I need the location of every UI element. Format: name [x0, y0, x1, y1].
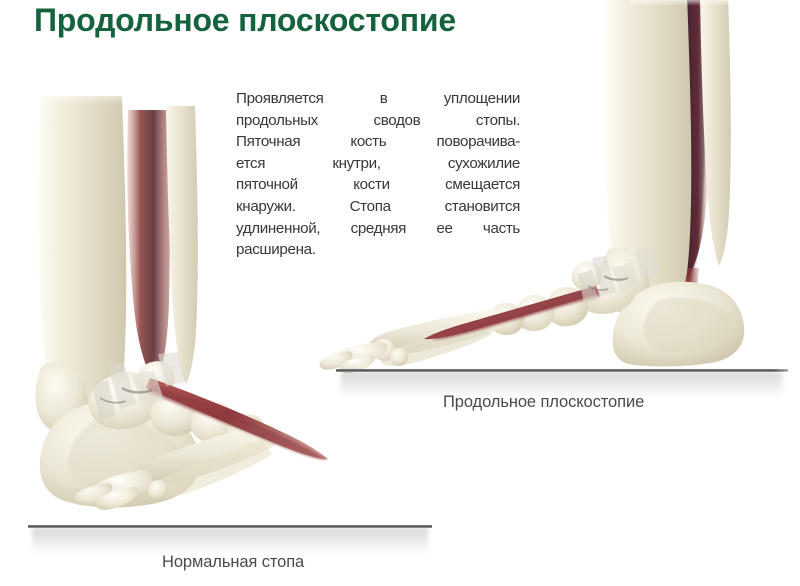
ground-line-normal: [28, 525, 432, 528]
ground-shadow-normal: [32, 528, 428, 554]
description-line: кнаружи. Стопа становится: [236, 196, 520, 218]
page-title: Продольное плоскостопие: [34, 2, 456, 39]
description-paragraph: Проявляется в уплощении продольных сводо…: [236, 88, 520, 261]
description-line: ется кнутри, сухожилие: [236, 153, 520, 175]
description-line: Пяточная кость поворачива-: [236, 131, 520, 153]
description-line: продольных сводов стопы.: [236, 110, 520, 132]
caption-normal-foot: Нормальная стопа: [162, 553, 304, 572]
muscle-top-fade-flat: [630, 0, 750, 14]
description-line: Проявляется в уплощении: [236, 88, 520, 110]
ground-line-flat: [336, 369, 788, 372]
muscle-top-fade-normal: [30, 86, 190, 120]
caption-flat-foot: Продольное плоскостопие: [443, 393, 644, 412]
description-line: расширена.: [236, 239, 520, 261]
description-line: пяточной кости смещается: [236, 174, 520, 196]
fibula-normal: [166, 106, 198, 384]
description-line: удлиненной, средняя ее часть: [236, 218, 520, 240]
fibula-flat: [700, 0, 731, 266]
